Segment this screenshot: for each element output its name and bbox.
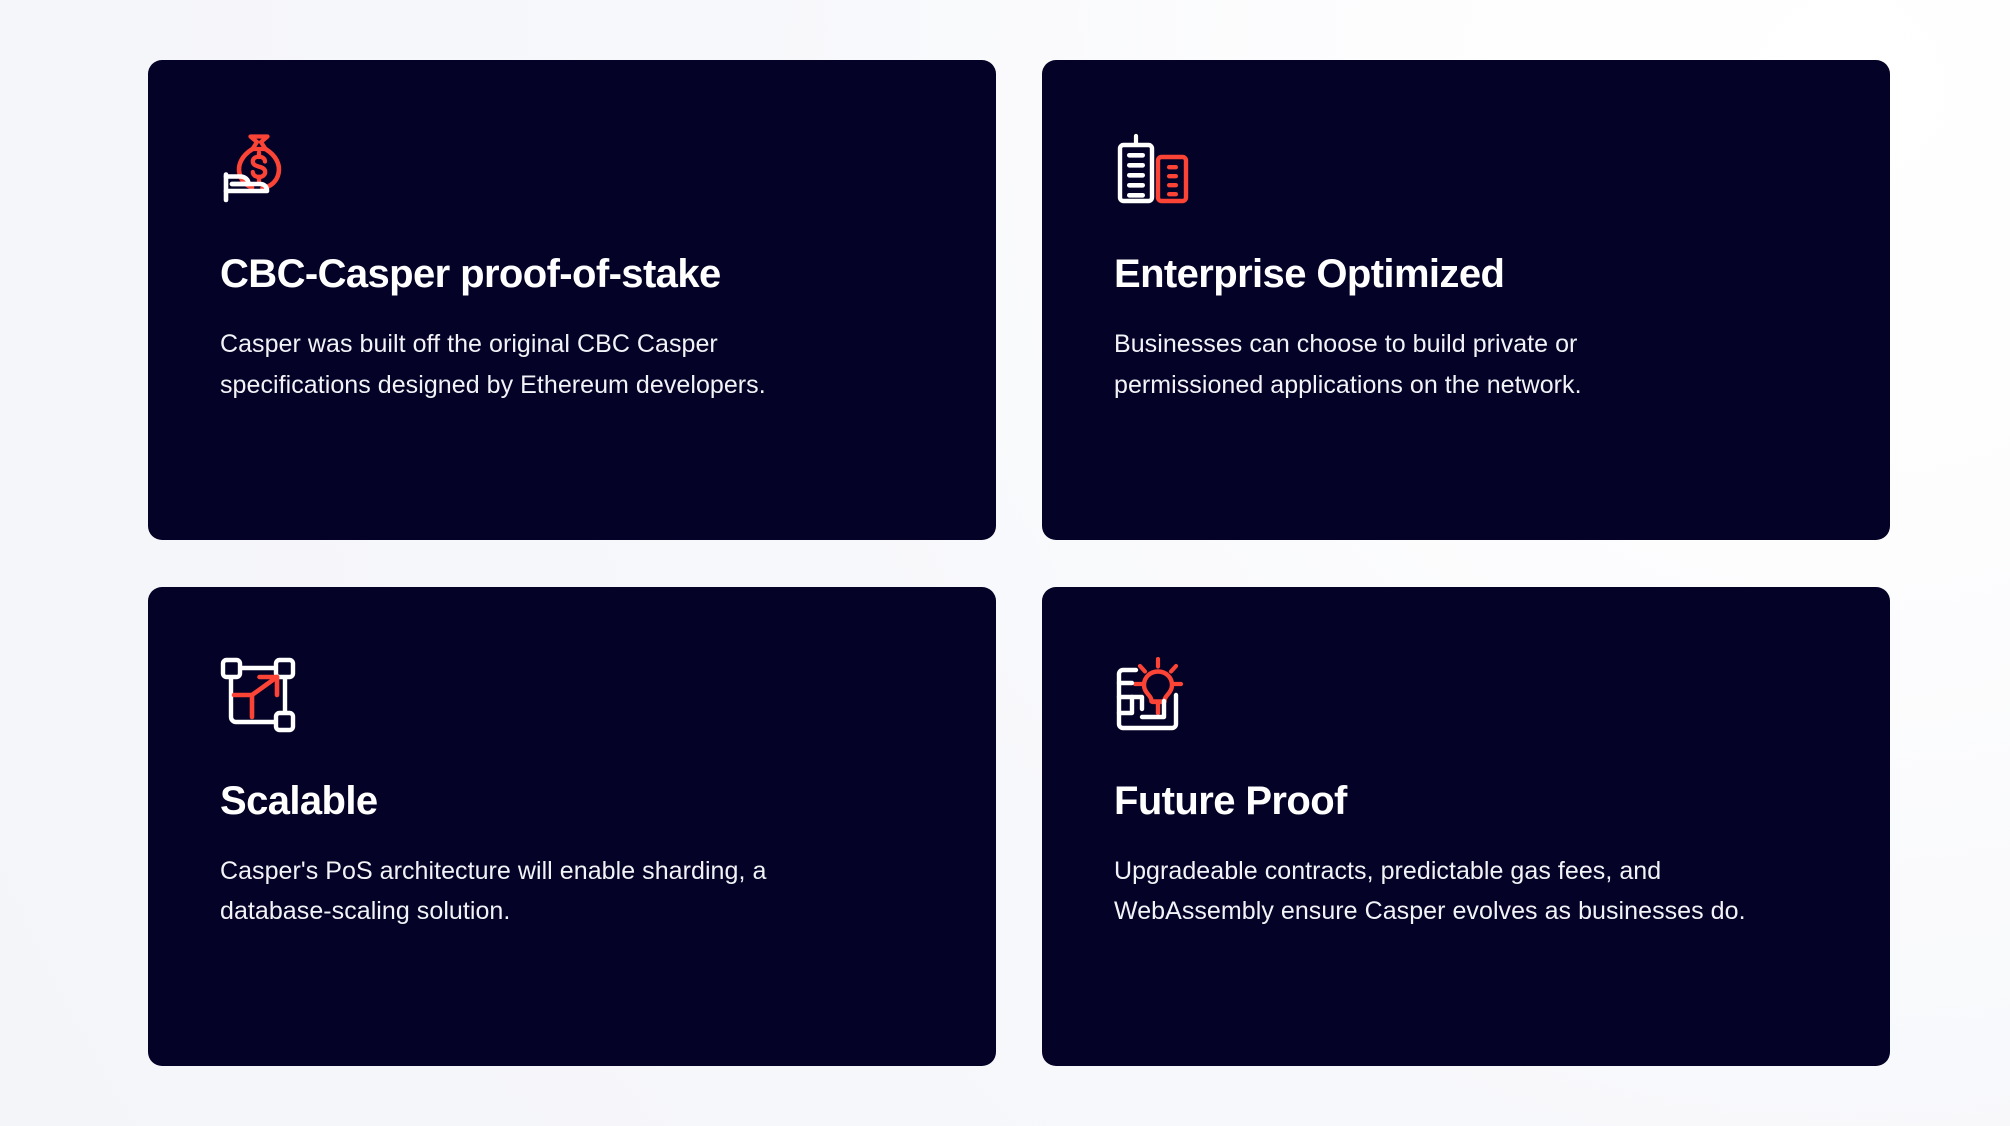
card-description: Upgradeable contracts, predictable gas f…	[1114, 851, 1794, 932]
card-description: Casper was built off the original CBC Ca…	[220, 324, 820, 405]
card-description: Casper's PoS architecture will enable sh…	[220, 851, 820, 932]
money-bag-stake-icon	[220, 130, 298, 208]
feature-card-cbc-casper-proof-of-stake[interactable]: CBC-Casper proof-of-stake Casper was bui…	[148, 60, 996, 540]
feature-card-future-proof[interactable]: Future Proof Upgradeable contracts, pred…	[1042, 587, 1890, 1067]
feature-card-grid: CBC-Casper proof-of-stake Casper was bui…	[148, 60, 1890, 1066]
card-description: Businesses can choose to build private o…	[1114, 324, 1714, 405]
lightbulb-circuit-icon	[1114, 657, 1192, 735]
card-title: Enterprise Optimized	[1114, 252, 1822, 296]
card-title: Future Proof	[1114, 779, 1822, 823]
office-buildings-icon	[1114, 130, 1192, 208]
card-title: Scalable	[220, 779, 928, 823]
feature-card-enterprise-optimized[interactable]: Enterprise Optimized Businesses can choo…	[1042, 60, 1890, 540]
scale-resize-arrow-icon	[220, 657, 298, 735]
feature-card-scalable[interactable]: Scalable Casper's PoS architecture will …	[148, 587, 996, 1067]
card-title: CBC-Casper proof-of-stake	[220, 252, 928, 296]
page-background: CBC-Casper proof-of-stake Casper was bui…	[0, 0, 2010, 1126]
